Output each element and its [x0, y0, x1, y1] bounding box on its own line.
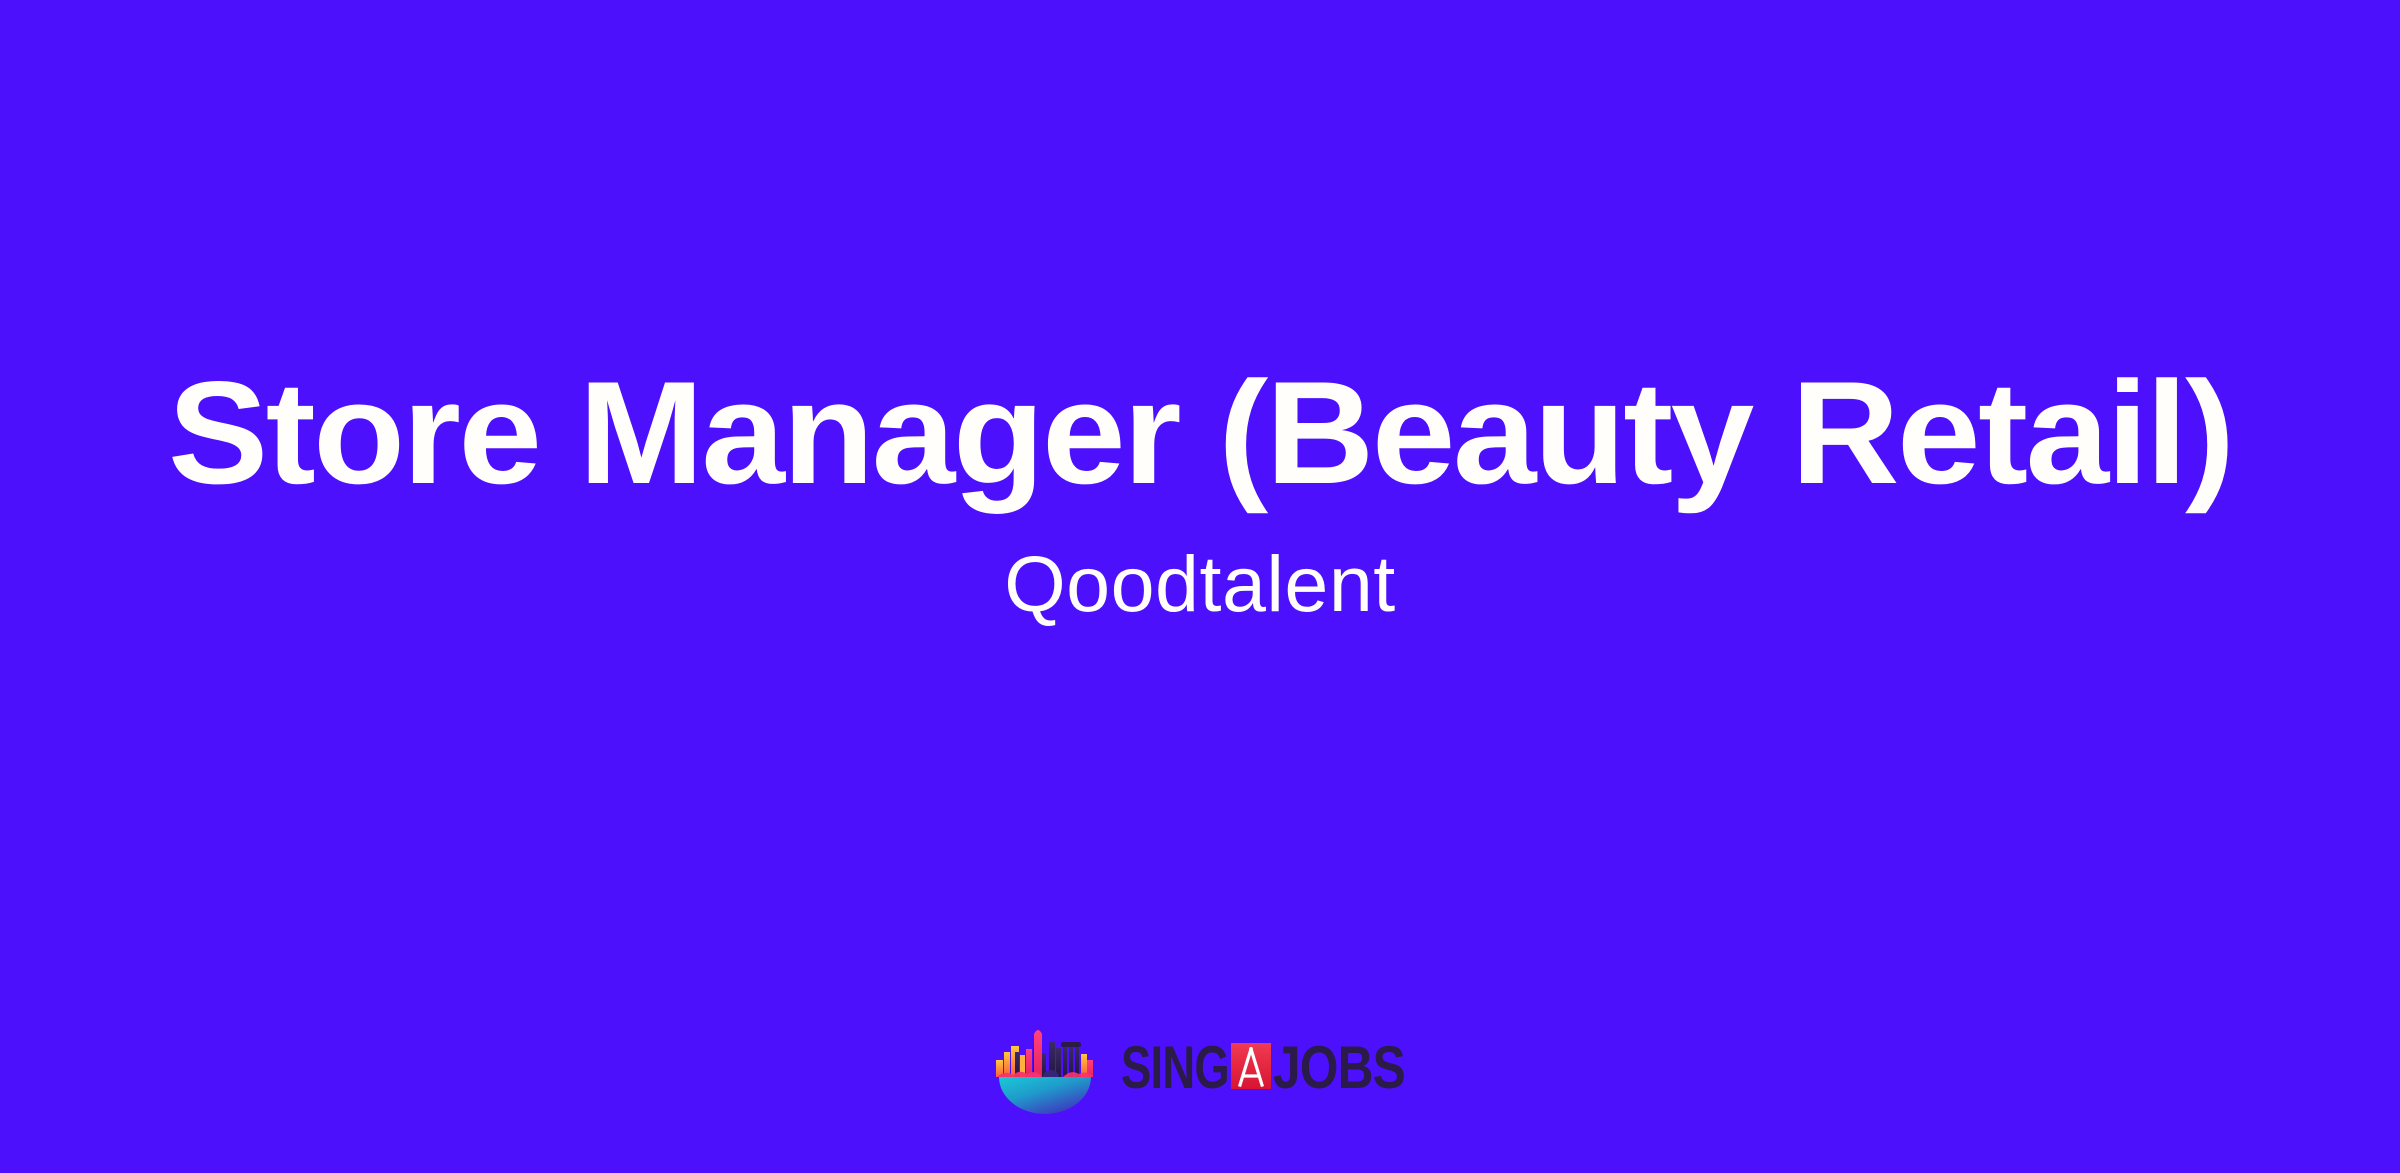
wordmark-part-1: SING: [1121, 1035, 1229, 1101]
wordmark-part-2: JOBS: [1273, 1035, 1405, 1101]
wordmark-accent-letter: [1231, 1043, 1271, 1089]
brand-logo-lockup[interactable]: SING JOBS: [993, 1022, 1407, 1114]
company-name: Qoodtalent: [1004, 506, 1396, 623]
job-promo-card: Store Manager (Beauty Retail) Qoodtalent: [0, 0, 2400, 1173]
singapore-skyline-icon: [993, 1022, 1097, 1114]
page-title: Store Manager (Beauty Retail): [168, 360, 2233, 506]
singajobs-wordmark: SING JOBS: [1121, 1035, 1407, 1101]
headline-block: Store Manager (Beauty Retail) Qoodtalent: [0, 360, 2400, 623]
